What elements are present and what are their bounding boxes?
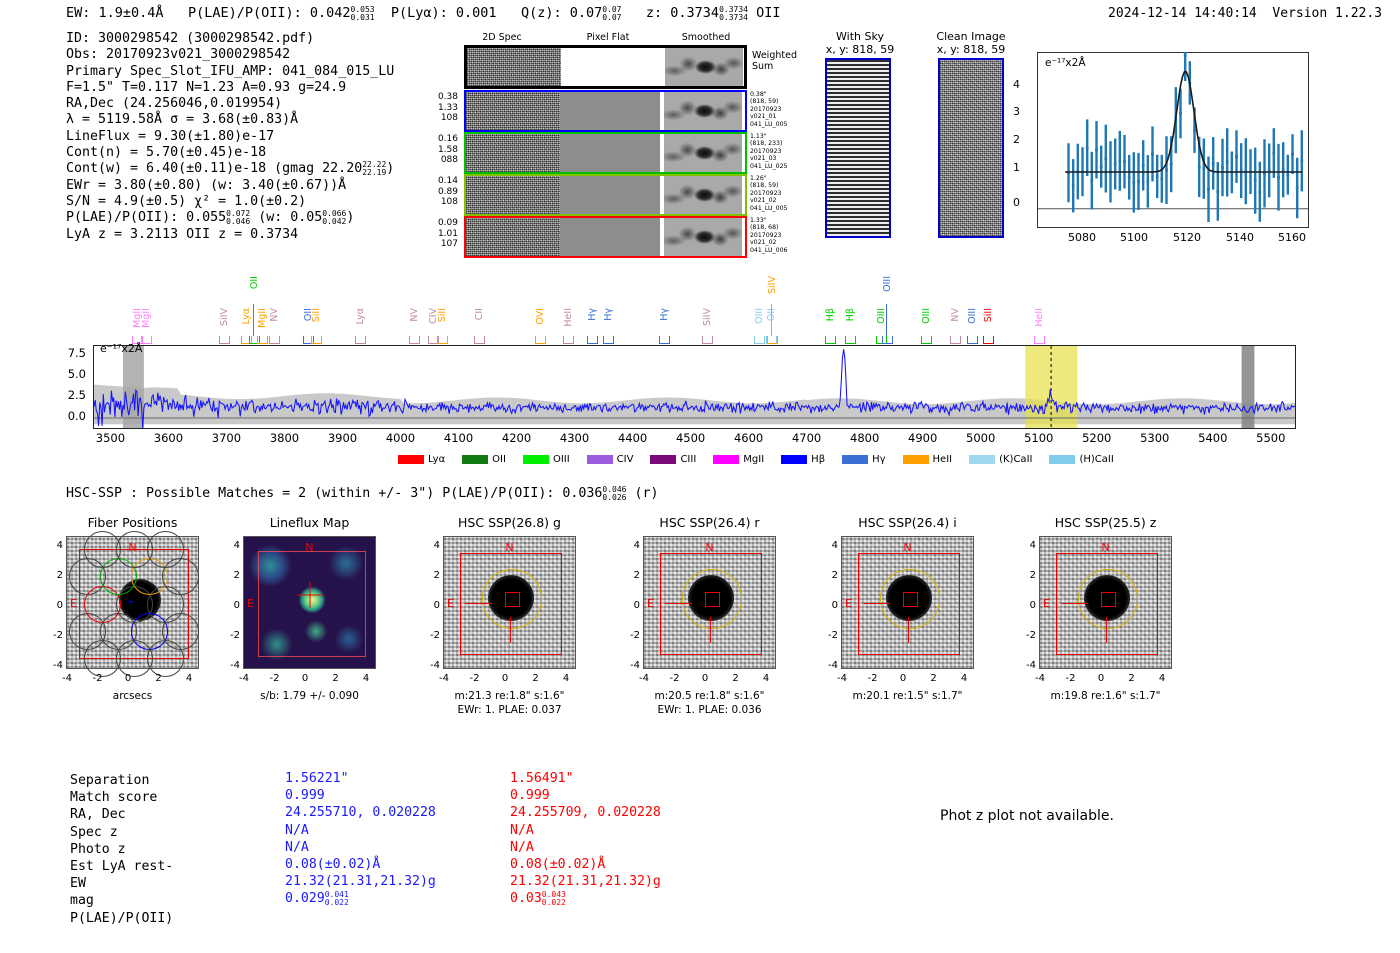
cutout-5-ytick-4: -4 xyxy=(1019,660,1036,671)
match-col2-value-4: N/A xyxy=(510,839,661,856)
cutout-panel-2[interactable]: NE xyxy=(443,536,576,669)
cutout-0-xtick-4: 4 xyxy=(179,673,199,684)
cutout-1-xtick-2: 0 xyxy=(295,673,315,684)
cutout-0-xtick-2: 0 xyxy=(118,673,138,684)
match-col2-value-6: 21.32(21.31,21.32)g xyxy=(510,873,661,890)
cutout-4-ytick-0: 4 xyxy=(821,540,838,551)
match-row-label-0: Separation xyxy=(70,772,173,789)
cutout-4-xtick-3: 2 xyxy=(924,673,944,684)
cutout-4-xtick-0: -4 xyxy=(832,673,852,684)
cutout-1-xtick-4: 4 xyxy=(356,673,376,684)
match-col1-plae: 0.0290.0410.022 xyxy=(285,890,436,907)
cutout-1-ytick-2: 0 xyxy=(223,600,240,611)
cutout-3-ytick-2: 0 xyxy=(623,600,640,611)
cutout-3-xtick-1: -2 xyxy=(665,673,685,684)
fiber-circle-14 xyxy=(84,640,121,677)
cutout-1-ytick-0: 4 xyxy=(223,540,240,551)
match-col1-value-0: 1.56221" xyxy=(285,770,436,787)
cutout-3-xtick-2: 0 xyxy=(695,673,715,684)
cutout-0-ytick-2: 0 xyxy=(46,600,63,611)
cutout-3-ytick-3: -2 xyxy=(623,630,640,641)
match-col1-value-5: 0.08(±0.02)Å xyxy=(285,856,436,873)
cutout-5-xtick-0: -4 xyxy=(1030,673,1050,684)
cutout-2-xtick-4: 4 xyxy=(556,673,576,684)
cutout-panel-row: Fiber PositionsNE+420-2-4-4-2024arcsecsL… xyxy=(0,0,1400,760)
cutout-caption1-1: s/b: 1.79 +/- 0.090 xyxy=(195,690,425,703)
cutout-0-ytick-3: -2 xyxy=(46,630,63,641)
cutout-1-xtick-3: 2 xyxy=(326,673,346,684)
cutout-panel-4[interactable]: NE xyxy=(841,536,974,669)
cutout-3-ytick-0: 4 xyxy=(623,540,640,551)
match-col2-value-3: N/A xyxy=(510,822,661,839)
cutout-2-ytick-3: -2 xyxy=(423,630,440,641)
cutout-0-xtick-0: -4 xyxy=(57,673,77,684)
cutout-5-xtick-2: 0 xyxy=(1091,673,1111,684)
match-col2-value-1: 0.999 xyxy=(510,787,661,804)
cutout-caption2-3: EWr: 1. PLAE: 0.036 xyxy=(595,704,825,717)
cutout-1-ytick-1: 2 xyxy=(223,570,240,581)
cutout-caption2-2: EWr: 1. PLAE: 0.037 xyxy=(395,704,625,717)
cutout-3-xtick-4: 4 xyxy=(756,673,776,684)
cutout-0-ytick-0: 4 xyxy=(46,540,63,551)
match-col2-plae: 0.030.0430.022 xyxy=(510,890,661,907)
match-col2-value-0: 1.56491" xyxy=(510,770,661,787)
cutout-2-xtick-2: 0 xyxy=(495,673,515,684)
cutout-2-ytick-2: 0 xyxy=(423,600,440,611)
cutout-0-xtick-1: -2 xyxy=(88,673,108,684)
match-col2-value-2: 24.255709, 0.020228 xyxy=(510,804,661,821)
cutout-0-ytick-1: 2 xyxy=(46,570,63,581)
match-col1-value-6: 21.32(21.31,21.32)g xyxy=(285,873,436,890)
cutout-3-ytick-1: 2 xyxy=(623,570,640,581)
cutout-1-ytick-4: -4 xyxy=(223,660,240,671)
cutout-panel-0[interactable]: NE+ xyxy=(66,536,199,669)
cutout-4-xtick-1: -2 xyxy=(863,673,883,684)
match-row-label-2: RA, Dec xyxy=(70,806,173,823)
cutout-1-xtick-1: -2 xyxy=(265,673,285,684)
cutout-title-5: HSC SSP(25.5) z xyxy=(1016,515,1196,530)
cutout-5-xtick-3: 2 xyxy=(1122,673,1142,684)
cutout-2-ytick-4: -4 xyxy=(423,660,440,671)
fiber-circle-15 xyxy=(147,531,184,568)
cutout-2-xtick-0: -4 xyxy=(434,673,454,684)
cutout-0-ytick-4: -4 xyxy=(46,660,63,671)
cutout-caption1-2: m:21.3 re:1.8" s:1.6" xyxy=(395,690,625,703)
cutout-4-ytick-2: 0 xyxy=(821,600,838,611)
cutout-title-0: Fiber Positions xyxy=(43,515,223,530)
cutout-caption1-4: m:20.1 re:1.5" s:1.7" xyxy=(793,690,1023,703)
fiber-circle-13 xyxy=(147,640,184,677)
cutout-4-xtick-2: 0 xyxy=(893,673,913,684)
cutout-5-ytick-3: -2 xyxy=(1019,630,1036,641)
cutout-2-ytick-0: 4 xyxy=(423,540,440,551)
match-row-label-4: Photo z xyxy=(70,841,173,858)
match-row-label-1: Match score xyxy=(70,789,173,806)
match-col2-value-5: 0.08(±0.02)Å xyxy=(510,856,661,873)
match-col1-value-1: 0.999 xyxy=(285,787,436,804)
cutout-4-xtick-4: 4 xyxy=(954,673,974,684)
cutout-2-ytick-1: 2 xyxy=(423,570,440,581)
cutout-2-xtick-3: 2 xyxy=(526,673,546,684)
matches-row-labels: SeparationMatch scoreRA, DecSpec zPhoto … xyxy=(70,772,173,927)
cutout-panel-1[interactable]: NE xyxy=(243,536,376,669)
match-row-label-3: Spec z xyxy=(70,824,173,841)
match-col1-value-4: N/A xyxy=(285,839,436,856)
match-col1-value-2: 24.255710, 0.020228 xyxy=(285,804,436,821)
fiber-center-marker: + xyxy=(127,597,135,608)
cutout-5-ytick-0: 4 xyxy=(1019,540,1036,551)
cutout-3-xtick-0: -4 xyxy=(634,673,654,684)
cutout-3-ytick-4: -4 xyxy=(623,660,640,671)
cutout-0-xtick-3: 2 xyxy=(149,673,169,684)
cutout-5-xtick-1: -2 xyxy=(1061,673,1081,684)
cutout-title-3: HSC SSP(26.4) r xyxy=(620,515,800,530)
cutout-caption1-3: m:20.5 re:1.8" s:1.6" xyxy=(595,690,825,703)
cutout-5-ytick-2: 0 xyxy=(1019,600,1036,611)
cutout-4-ytick-3: -2 xyxy=(821,630,838,641)
cutout-panel-3[interactable]: NE xyxy=(643,536,776,669)
cutout-title-4: HSC SSP(26.4) i xyxy=(818,515,998,530)
cutout-3-xtick-3: 2 xyxy=(726,673,746,684)
cutout-caption1-5: m:19.8 re:1.6" s:1.7" xyxy=(991,690,1221,703)
match-row-label-5: Est LyA rest-EW xyxy=(70,858,173,892)
cutout-panel-5[interactable]: NE xyxy=(1039,536,1172,669)
matches-column-red: 1.56491"0.99924.255709, 0.020228N/AN/A0.… xyxy=(510,770,661,908)
photoz-note: Phot z plot not available. xyxy=(940,808,1114,824)
cutout-1-xtick-0: -4 xyxy=(234,673,254,684)
cutout-5-ytick-1: 2 xyxy=(1019,570,1036,581)
cutout-title-1: Lineflux Map xyxy=(220,515,400,530)
cutout-4-ytick-1: 2 xyxy=(821,570,838,581)
cutout-4-ytick-4: -4 xyxy=(821,660,838,671)
match-col1-value-3: N/A xyxy=(285,822,436,839)
matches-column-blue: 1.56221"0.99924.255710, 0.020228N/AN/A0.… xyxy=(285,770,436,908)
cutout-title-2: HSC SSP(26.8) g xyxy=(420,515,600,530)
cutout-5-xtick-4: 4 xyxy=(1152,673,1172,684)
match-row-label-6: mag xyxy=(70,892,173,909)
cutout-2-xtick-1: -2 xyxy=(465,673,485,684)
match-row-label-7: P(LAE)/P(OII) xyxy=(70,910,173,927)
cutout-1-ytick-3: -2 xyxy=(223,630,240,641)
